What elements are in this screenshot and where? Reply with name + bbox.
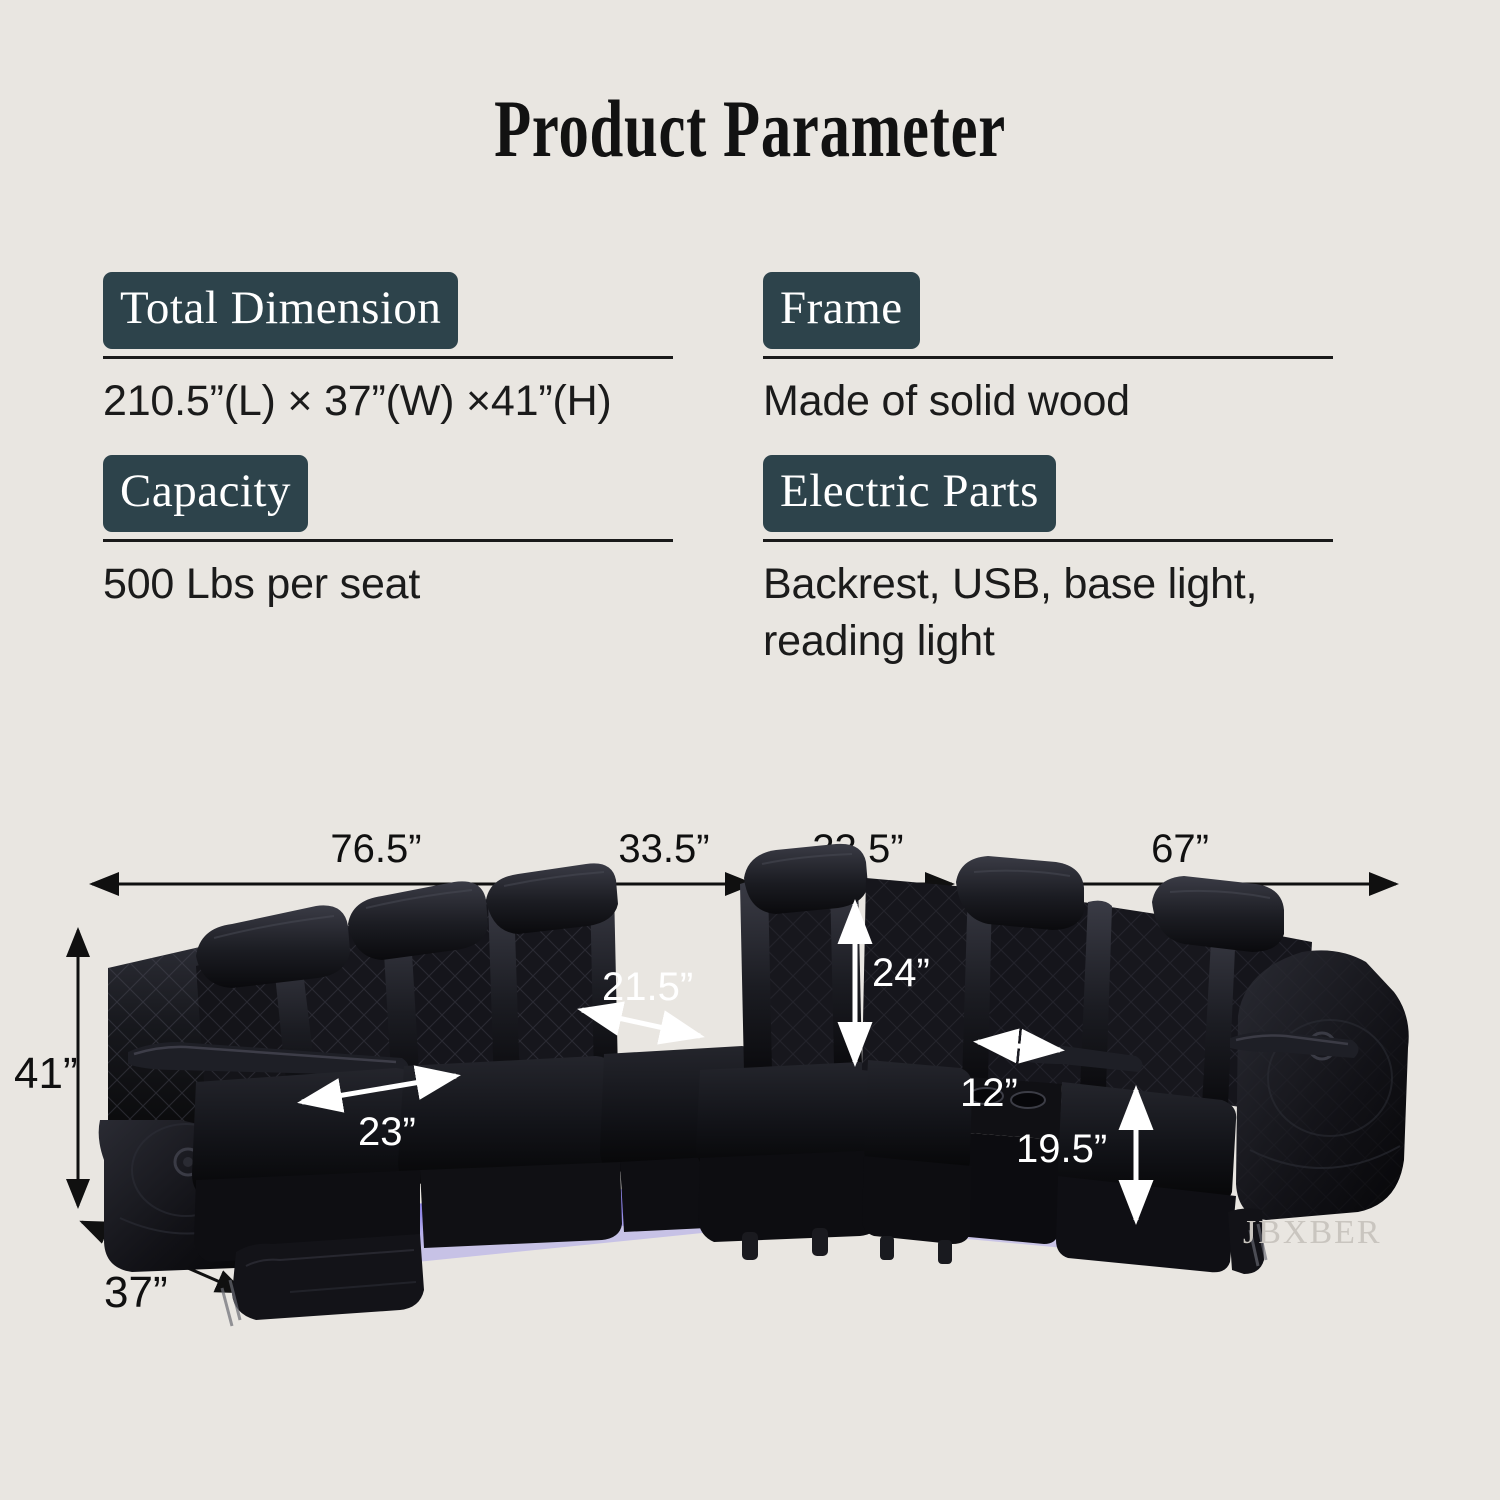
spec-badge-electric-parts: Electric Parts (763, 455, 1056, 532)
spec-value-frame: Made of solid wood (763, 373, 1333, 431)
dim-label-24: 24” (872, 951, 930, 995)
spec-block-electric-parts: Electric Parts Backrest, USB, base light… (763, 455, 1333, 671)
spec-block-frame: Frame Made of solid wood (763, 272, 1333, 431)
spec-divider (103, 539, 673, 542)
dim-label-23: 23” (358, 1110, 416, 1154)
spec-badge-capacity: Capacity (103, 455, 308, 532)
headrest (956, 856, 1084, 930)
spec-value-electric-parts: Backrest, USB, base light, reading light (763, 556, 1333, 671)
spec-divider (763, 539, 1333, 542)
spec-divider (763, 356, 1333, 359)
spec-value-total-dimension: 210.5”(L) × 37”(W) ×41”(H) (103, 373, 673, 431)
spec-badge-frame: Frame (763, 272, 920, 349)
seat-cushion (864, 1060, 972, 1174)
spec-divider (103, 356, 673, 359)
headrest (486, 863, 618, 934)
spec-grid: Total Dimension 210.5”(L) × 37”(W) ×41”(… (103, 272, 1333, 671)
dim-label-67: 67” (1151, 827, 1209, 871)
dim-label-76-5: 76.5” (330, 827, 421, 871)
spec-badge-total-dimension: Total Dimension (103, 272, 458, 349)
watermark: JBXBER (1243, 1214, 1382, 1251)
page-title: Product Parameter (195, 88, 1305, 170)
spec-block-total-dimension: Total Dimension 210.5”(L) × 37”(W) ×41”(… (103, 272, 673, 431)
dim-label-41: 41” (14, 1049, 78, 1098)
dim-label-12: 12” (960, 1071, 1018, 1115)
dim-label-19-5: 19.5” (1016, 1127, 1107, 1171)
sectional-sofa-illustration (99, 844, 1409, 1326)
dim-label-33-5-left: 33.5” (618, 827, 709, 871)
footrest-extended (232, 1234, 424, 1320)
dim-label-21-5: 21.5” (602, 965, 693, 1009)
dim-label-37: 37” (104, 1268, 168, 1317)
spec-block-capacity: Capacity 500 Lbs per seat (103, 455, 673, 671)
sofa-dimension-diagram: 76.5” 33.5” 33.5” 67” 41” 37” (0, 820, 1500, 1380)
spec-value-capacity: 500 Lbs per seat (103, 556, 673, 614)
